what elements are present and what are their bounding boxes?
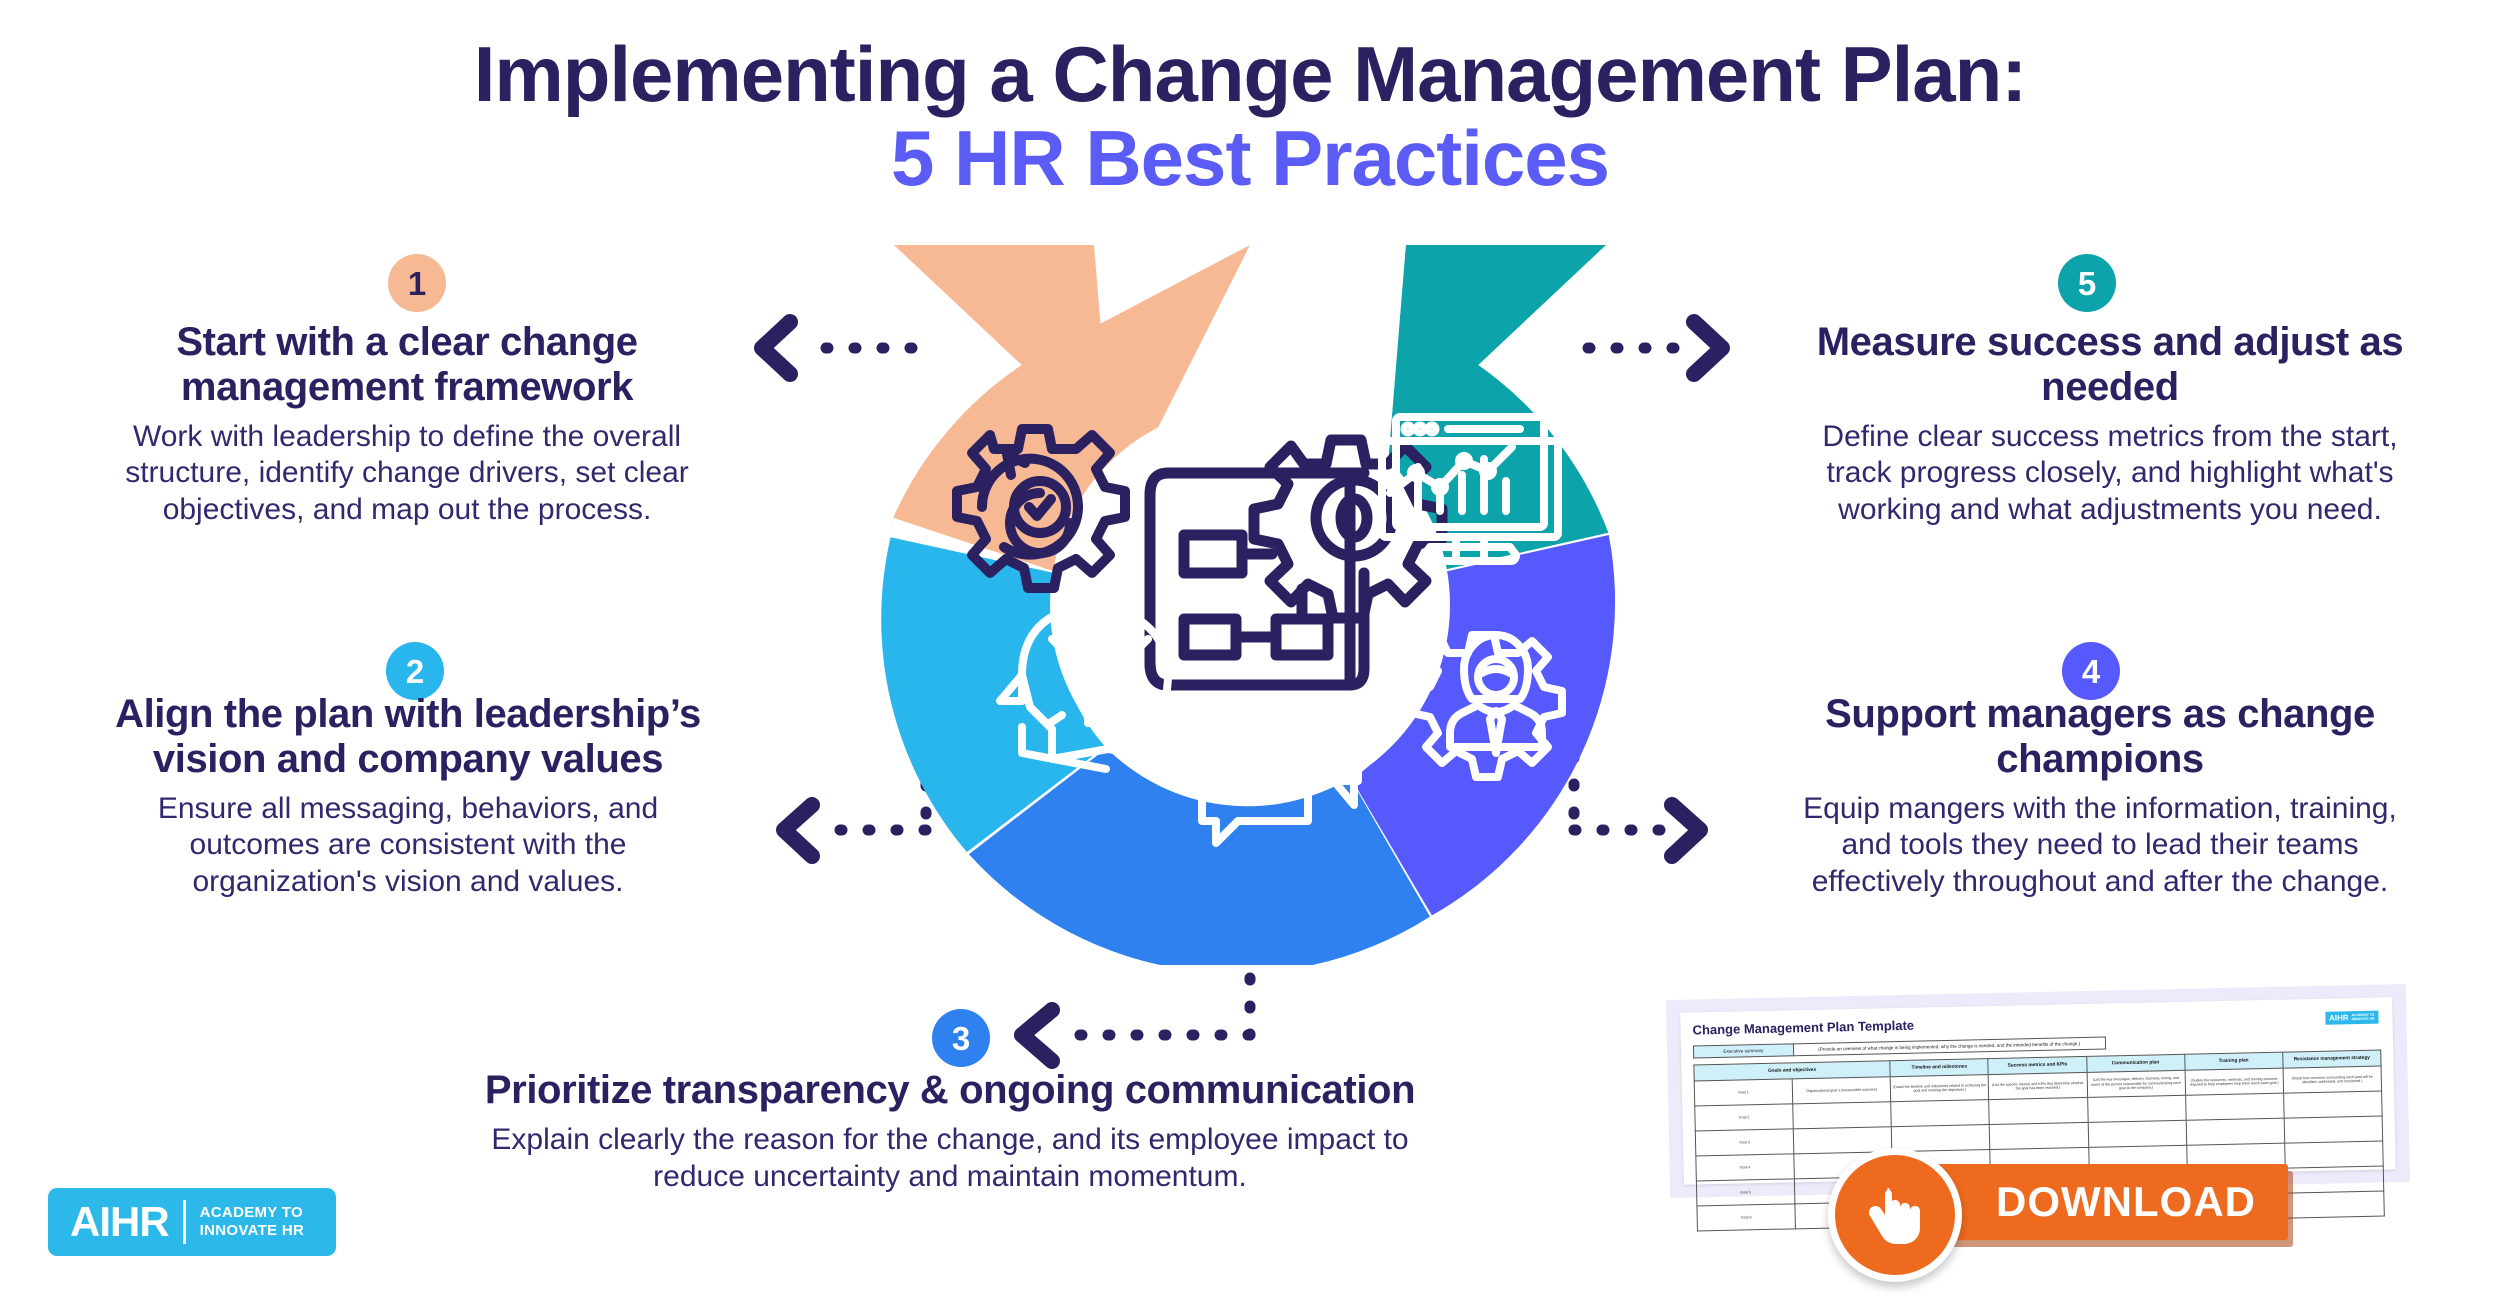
table-cell bbox=[2185, 1093, 2284, 1120]
donut-segments bbox=[881, 245, 1615, 965]
step-block-3: Prioritize transparency & ongoing commun… bbox=[400, 1068, 1500, 1196]
table-cell bbox=[1793, 1102, 1892, 1129]
goal-label: Goal 4 bbox=[1696, 1154, 1795, 1181]
step-heading-2: Align the plan with leadership’s vision … bbox=[108, 692, 708, 782]
table-cell bbox=[2286, 1191, 2385, 1218]
step-heading-4: Support managers as change champions bbox=[1790, 692, 2410, 782]
download-circle[interactable] bbox=[1828, 1148, 1962, 1282]
step-body-1: Work with leadership to define the overa… bbox=[92, 419, 722, 530]
logo-tagline-line1: ACADEMY TO bbox=[200, 1204, 304, 1222]
table-cell bbox=[2283, 1091, 2382, 1118]
template-logo-tagline-line2: INNOVATE HR bbox=[2352, 1017, 2375, 1021]
table-cell bbox=[2087, 1095, 2186, 1122]
table-cell: (Detail how concerns surrounding each go… bbox=[2283, 1066, 2382, 1093]
aihr-logo: AIHR ACADEMY TO INNOVATE HR bbox=[48, 1188, 336, 1256]
template-sheet: Change Management Plan Template AIHR ACA… bbox=[1680, 997, 2396, 1184]
step-badge-5: 5 bbox=[2058, 254, 2116, 312]
step-block-4: Support managers as change champions Equ… bbox=[1790, 692, 2410, 901]
step-block-1: Start with a clear change management fra… bbox=[92, 320, 722, 529]
step-block-5: Measure success and adjust as needed Def… bbox=[1800, 320, 2420, 529]
goal-label: Goal 6 bbox=[1697, 1204, 1796, 1231]
template-exec-summary-table: Executive summary (Provide an overview o… bbox=[1693, 1037, 2106, 1059]
exec-summary-label: Executive summary bbox=[1693, 1044, 1793, 1058]
download-bar[interactable]: DOWNLOAD bbox=[1906, 1164, 2288, 1240]
table-cell bbox=[2285, 1141, 2384, 1168]
table-cell bbox=[2285, 1166, 2384, 1193]
template-logo-tagline: ACADEMY TO INNOVATE HR bbox=[2352, 1013, 2375, 1021]
logo-wordmark: AIHR bbox=[48, 1201, 169, 1243]
table-cell bbox=[2186, 1118, 2285, 1145]
table-cell bbox=[1990, 1122, 2089, 1149]
goal-label: Goal 3 bbox=[1695, 1129, 1794, 1156]
step-badge-1: 1 bbox=[388, 254, 446, 312]
step-body-3: Explain clearly the reason for the chang… bbox=[480, 1122, 1420, 1196]
page-title: Implementing a Change Management Plan: 5… bbox=[0, 34, 2500, 202]
step-heading-5: Measure success and adjust as needed bbox=[1800, 320, 2420, 410]
goal-label: Goal 1 bbox=[1694, 1079, 1793, 1106]
template-aihr-logo: AIHR ACADEMY TO INNOVATE HR bbox=[2325, 1011, 2379, 1025]
infographic-canvas: Implementing a Change Management Plan: 5… bbox=[0, 0, 2500, 1307]
template-logo-wordmark: AIHR bbox=[2329, 1013, 2349, 1022]
table-cell: (List the key messages, delivery channel… bbox=[2087, 1070, 2186, 1097]
template-title: Change Management Plan Template bbox=[1692, 1008, 2380, 1038]
logo-tagline-line2: INNOVATE HR bbox=[200, 1222, 304, 1240]
goal-label: Goal 2 bbox=[1695, 1104, 1794, 1131]
table-cell bbox=[2088, 1120, 2187, 1147]
logo-tagline: ACADEMY TO INNOVATE HR bbox=[200, 1204, 304, 1241]
table-row: Executive summary (Provide an overview o… bbox=[1693, 1037, 2105, 1058]
step-heading-1: Start with a clear change management fra… bbox=[92, 320, 722, 410]
table-cell: (Detail the timeline and milestones rela… bbox=[1890, 1075, 1989, 1102]
table-cell bbox=[1989, 1097, 2088, 1124]
step-heading-3: Prioritize transparency & ongoing commun… bbox=[400, 1068, 1500, 1113]
table-cell bbox=[1892, 1125, 1991, 1152]
table-cell: Organizational goal 1 (measurable outcom… bbox=[1792, 1077, 1891, 1104]
download-label: DOWNLOAD bbox=[1996, 1181, 2256, 1223]
donut-segment-1-body bbox=[890, 518, 893, 535]
step-block-2: Align the plan with leadership’s vision … bbox=[108, 692, 708, 901]
title-line-1: Implementing a Change Management Plan: bbox=[0, 34, 2500, 115]
table-cell: (List the specific metrics and KPIs that… bbox=[1989, 1072, 2088, 1099]
step-body-2: Ensure all messaging, behaviors, and out… bbox=[108, 791, 708, 902]
table-cell: (Outline the resources, methods, and tra… bbox=[2185, 1068, 2284, 1095]
table-cell bbox=[1891, 1100, 1990, 1127]
exec-summary-value: (Provide an overview of what change is b… bbox=[1793, 1037, 2105, 1056]
logo-divider bbox=[183, 1200, 186, 1244]
title-line-2: 5 HR Best Practices bbox=[0, 115, 2500, 202]
goal-label: Goal 5 bbox=[1696, 1179, 1795, 1206]
hand-pointer-icon bbox=[1864, 1182, 1926, 1248]
step-body-5: Define clear success metrics from the st… bbox=[1800, 419, 2420, 530]
step-badge-3: 3 bbox=[932, 1009, 990, 1067]
change-cycle-donut bbox=[770, 245, 1730, 965]
table-cell bbox=[2284, 1116, 2383, 1143]
step-body-4: Equip mangers with the information, trai… bbox=[1790, 791, 2410, 902]
